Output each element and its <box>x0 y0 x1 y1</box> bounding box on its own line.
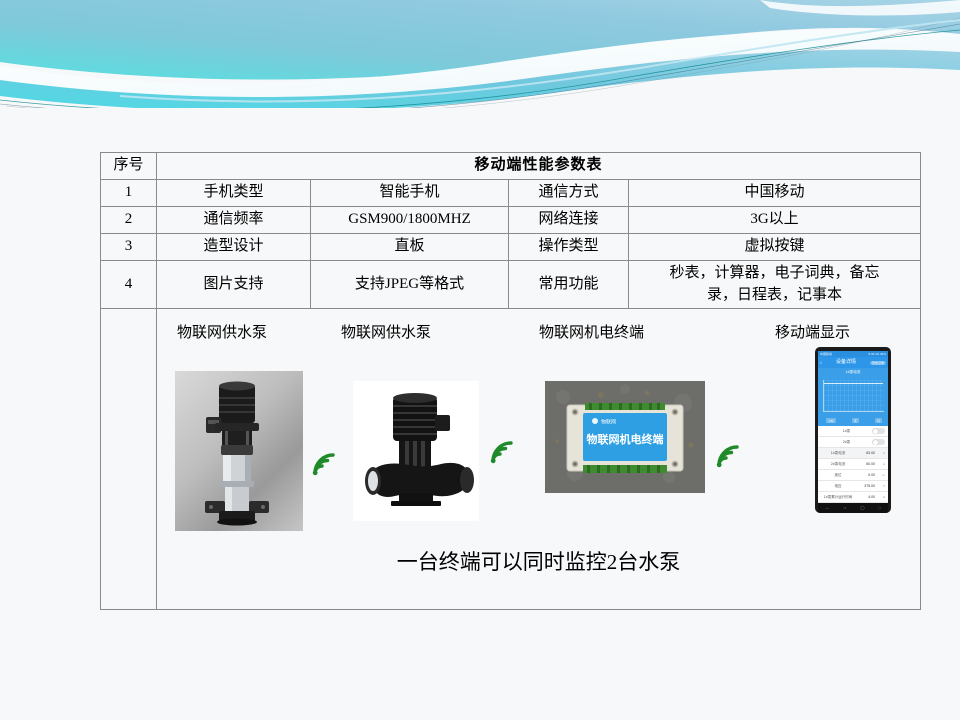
list-item-label: 2#泵 <box>821 440 872 445</box>
row-value-2: 中国移动 <box>629 179 921 206</box>
device-label-terminal: 物联网机电终端 <box>539 323 644 345</box>
row-value-1: 直板 <box>311 233 509 260</box>
list-item: 1#泵电流 63.00 A <box>818 448 888 459</box>
system-diagram: 物联网供水泵 物联网供水泵 物联网机电终端 移动端显示 <box>157 309 920 609</box>
table-title-cell: 移动端性能参数表 <box>157 153 921 180</box>
list-item-label: 2#泵电流 <box>821 462 855 467</box>
wifi-signal-icon-3 <box>713 441 743 479</box>
list-item-label: 液位 <box>821 473 855 478</box>
decorative-top-banner <box>0 0 960 108</box>
recents-icon[interactable]: □ <box>879 505 881 511</box>
phone-chart-series-line <box>824 383 883 384</box>
list-item-unit: H <box>875 495 885 499</box>
row-key-1: 手机类型 <box>157 179 311 206</box>
phone-screen: 中国移动 8:30 4G 45% ‹ 设备详情 历史记录 1#泵电流 <box>818 351 888 503</box>
table-header-row: 序号 移动端性能参数表 <box>101 153 921 180</box>
menu-icon[interactable]: — <box>825 505 829 511</box>
list-item: 电压 375.00 V <box>818 481 888 492</box>
row-key-2: 网络连接 <box>509 206 629 233</box>
phone-chart-range-buttons[interactable]: 小时 天 月 <box>826 418 882 423</box>
phone-navigation-keys: — ◅ ◯ □ <box>818 503 888 513</box>
list-item[interactable]: 1#泵 <box>818 426 888 437</box>
device-label-pump-2: 物联网供水泵 <box>341 323 431 345</box>
device-label-pump-1: 物联网供水泵 <box>177 323 267 345</box>
row-value-2: 虚拟按键 <box>629 233 921 260</box>
home-icon[interactable]: ◯ <box>860 505 864 511</box>
row-key-1: 造型设计 <box>157 233 311 260</box>
photo-iot-terminal: 物联网 物联网机电终端 <box>545 381 705 493</box>
phone-history-button[interactable]: 历史记录 <box>870 361 886 365</box>
list-item-value: 63.00 <box>855 451 875 456</box>
diagram-row: 物联网供水泵 物联网供水泵 物联网机电终端 移动端显示 <box>101 309 921 610</box>
list-item-unit: V <box>875 484 885 488</box>
phone-chart-plot-area <box>823 380 884 412</box>
wifi-signal-icon-2 <box>487 437 517 475</box>
pump-2-toggle[interactable] <box>872 439 885 445</box>
row-index: 4 <box>101 260 157 309</box>
mobile-spec-table: 序号 移动端性能参数表 1 手机类型 智能手机 通信方式 中国移动 2 通信频率… <box>100 152 921 610</box>
status-indicators: 8:30 4G 45% <box>868 352 886 356</box>
table-row: 4 图片支持 支持JPEG等格式 常用功能 秒表，计算器，电子词典，备忘 录，日… <box>101 260 921 309</box>
list-item-unit: A <box>875 451 885 455</box>
row-value-2-line-1: 秒表，计算器，电子词典，备忘 <box>633 263 916 285</box>
row-index: 1 <box>101 179 157 206</box>
list-item-label: 1#泵 <box>821 429 872 434</box>
table-row: 3 造型设计 直板 操作类型 虚拟按键 <box>101 233 921 260</box>
back-icon[interactable]: ◅ <box>843 505 846 511</box>
row-value-1: 智能手机 <box>311 179 509 206</box>
svg-text:物联网: 物联网 <box>601 419 616 426</box>
phone-current-chart: 1#泵电流 小时 天 月 <box>818 368 888 426</box>
header-no-cell: 序号 <box>101 153 157 180</box>
mobile-phone-device: 中国移动 8:30 4G 45% ‹ 设备详情 历史记录 1#泵电流 <box>815 347 891 513</box>
row-value-2: 秒表，计算器，电子词典，备忘 录，日程表，记事本 <box>629 260 921 309</box>
diagram-empty-cell <box>101 309 157 610</box>
list-item-label: 1#泵累计运行时间 <box>821 495 855 500</box>
pump-1-toggle[interactable] <box>872 428 885 434</box>
list-item: 液位 0.00 m <box>818 470 888 481</box>
phone-page-title: 设备详情 <box>836 359 856 366</box>
list-item-label: 1#泵电流 <box>821 451 855 456</box>
list-item-label: 电压 <box>821 484 855 489</box>
list-item-unit: m <box>875 473 885 477</box>
status-carrier: 中国移动 <box>820 352 832 356</box>
row-value-1: 支持JPEG等格式 <box>311 260 509 309</box>
row-key-2: 常用功能 <box>509 260 629 309</box>
phone-nav-bar: ‹ 设备详情 历史记录 <box>818 357 888 368</box>
diagram-content-cell: 物联网供水泵 物联网供水泵 物联网机电终端 移动端显示 <box>157 309 921 610</box>
list-item: 2#泵电流 60.00 A <box>818 459 888 470</box>
table-row: 1 手机类型 智能手机 通信方式 中国移动 <box>101 179 921 206</box>
row-key-1: 图片支持 <box>157 260 311 309</box>
list-item-value: 375.00 <box>855 484 875 489</box>
chart-range-hour[interactable]: 小时 <box>826 418 836 423</box>
list-item[interactable]: 2#泵 <box>818 437 888 448</box>
wifi-signal-icon-1 <box>309 449 339 487</box>
row-value-2: 3G以上 <box>629 206 921 233</box>
row-index: 2 <box>101 206 157 233</box>
row-key-2: 通信方式 <box>509 179 629 206</box>
chart-range-month[interactable]: 月 <box>875 418 882 423</box>
row-key-2: 操作类型 <box>509 233 629 260</box>
table-row: 2 通信频率 GSM900/1800MHZ 网络连接 3G以上 <box>101 206 921 233</box>
device-label-mobile: 移动端显示 <box>775 323 850 345</box>
photo-vertical-pump <box>175 371 303 531</box>
list-item-unit: A <box>875 462 885 466</box>
svg-text:物联网机电终端: 物联网机电终端 <box>587 432 664 446</box>
list-item-value: 0.00 <box>855 473 875 478</box>
chevron-left-icon[interactable]: ‹ <box>820 360 822 366</box>
row-value-2-line-2: 录，日程表，记事本 <box>633 285 916 307</box>
chart-range-day[interactable]: 天 <box>852 418 859 423</box>
photo-inline-pump <box>353 381 479 521</box>
phone-chart-title: 1#泵电流 <box>818 370 888 375</box>
row-value-1: GSM900/1800MHZ <box>311 206 509 233</box>
diagram-caption: 一台终端可以同时监控2台水泵 <box>157 547 920 577</box>
list-item: 1#泵累计运行时间 4.00 H <box>818 492 888 503</box>
row-key-1: 通信频率 <box>157 206 311 233</box>
row-index: 3 <box>101 233 157 260</box>
list-item-value: 60.00 <box>855 462 875 467</box>
list-item-value: 4.00 <box>855 495 875 500</box>
